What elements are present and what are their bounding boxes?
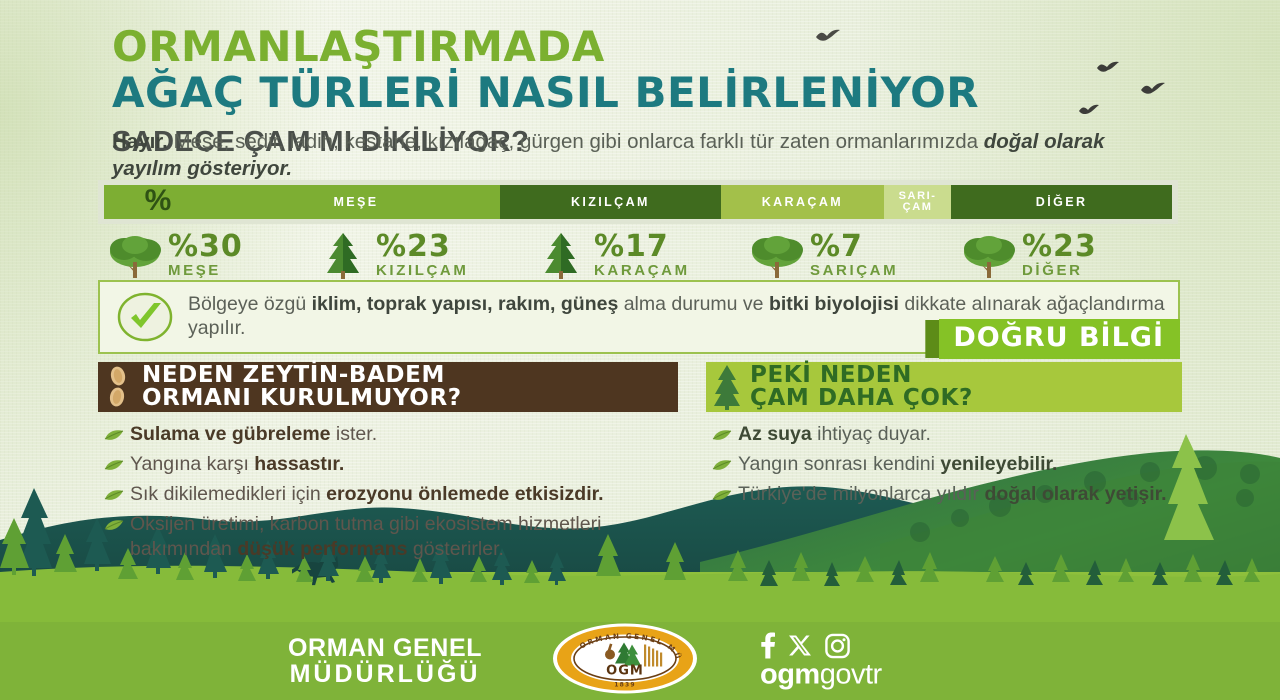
legend-value: %17: [594, 233, 690, 262]
svg-text:1839: 1839: [614, 682, 636, 689]
bird-icon: [1078, 103, 1100, 117]
panel-list: Az suya ihtiyaç duyar. Yangın sonrası ke…: [706, 422, 1182, 507]
panel-list: Sulama ve gübreleme ister. Yangına karşı…: [98, 422, 678, 561]
legend-value: %23: [376, 233, 468, 262]
list-item: Yangına karşı hassastır.: [104, 452, 678, 477]
broadleaf-tree-icon: [958, 232, 1020, 280]
bird-icon: [1096, 60, 1120, 75]
conifer-tree-icon: [530, 232, 592, 280]
list-item: Yangın sonrası kendini yenileyebilir.: [712, 452, 1182, 477]
leaf-bullet-icon: [104, 452, 130, 477]
panel-title-line-1: PEKİ NEDEN: [750, 364, 1182, 387]
footer-band: ORMAN GENEL MÜDÜRLÜĞÜ ORMAN GENEL MÜDÜRL…: [0, 622, 1280, 700]
panel-zeytin-badem: NEDEN ZEYTİN-BADEM ORMANI KURULMUYOR? Su…: [98, 362, 678, 566]
leaf-bullet-icon: [104, 482, 130, 507]
badge-ribbon-fold: [925, 320, 939, 358]
legend-label: KIZILÇAM: [376, 263, 468, 280]
list-item-text: Türkiye'de milyonlarca yıldır doğal olar…: [738, 482, 1182, 507]
ogm-seal-logo: ORMAN GENEL MÜDÜRLÜĞÜ O: [552, 623, 698, 700]
list-item: Oksijen üretimi, karbon tutma gibi ekosi…: [104, 512, 678, 561]
legend-label: DİĞER: [1022, 263, 1097, 280]
panel-cam-daha-cok: PEKİ NEDEN ÇAM DAHA ÇOK? Az suya ihtiyaç…: [706, 362, 1182, 512]
organization-name-line-2: MÜDÜRLÜĞÜ: [288, 661, 482, 687]
list-item-text: Az suya ihtiyaç duyar.: [738, 422, 1182, 447]
legend-item-sariçam: %7SARIÇAM: [746, 232, 958, 280]
percent-glyph: %: [145, 186, 172, 216]
headline-line-1: ORMANLAŞTIRMADA: [112, 26, 979, 68]
organization-name: ORMAN GENEL MÜDÜRLÜĞÜ: [288, 635, 482, 688]
conifer-tree-icon: [706, 362, 748, 412]
intro-paragraph: Hayır. Meşe, sedir, ladin, kestane, kızı…: [112, 128, 1152, 182]
legend-label: KARAÇAM: [594, 263, 690, 280]
almond-icon: [98, 362, 140, 412]
legend-label: SARIÇAM: [810, 263, 898, 280]
legend-value: %7: [810, 233, 898, 262]
list-item: Sık dikilemedikleri için erozyonu önleme…: [104, 482, 678, 507]
headline-line-2: AĞAÇ TÜRLERİ NASIL BELİRLENİYOR: [112, 72, 979, 114]
panel-title: NEDEN ZEYTİN-BADEM ORMANI KURULMUYOR?: [140, 362, 678, 412]
panel-title-line-1: NEDEN ZEYTİN-BADEM: [142, 364, 678, 387]
bar-segment-sari-am[interactable]: SARI-ÇAM: [884, 185, 951, 219]
list-item-text: Oksijen üretimi, karbon tutma gibi ekosi…: [130, 512, 678, 561]
panel-title-line-2: ÇAM DAHA ÇOK?: [750, 387, 1182, 410]
list-item: Türkiye'de milyonlarca yıldır doğal olar…: [712, 482, 1182, 507]
leaf-bullet-icon: [712, 482, 738, 507]
bar-track: %MEŞEKIZILÇAMKARAÇAMSARI-ÇAMDİĞER: [104, 185, 1172, 219]
legend-item-meşe: %30MEŞE: [104, 232, 312, 280]
conifer-tree-icon: [312, 232, 374, 280]
legend-item-di̇ğer: %23DİĞER: [958, 232, 1174, 280]
facebook-icon[interactable]: [760, 633, 775, 659]
social-handle-light: govtr: [820, 659, 882, 691]
list-item-text: Sık dikilemedikleri için erozyonu önleme…: [130, 482, 678, 507]
species-distribution-bar: %MEŞEKIZILÇAMKARAÇAMSARI-ÇAMDİĞER: [98, 180, 1178, 224]
x-twitter-icon[interactable]: [788, 634, 812, 658]
correct-info-badge: DOĞRU BİLGİ: [925, 320, 1180, 358]
bar-segment-kizil-am[interactable]: KIZILÇAM: [500, 185, 721, 219]
social-icons: [760, 633, 882, 659]
list-item: Az suya ihtiyaç duyar.: [712, 422, 1182, 447]
social-handle[interactable]: ogmgovtr: [760, 661, 882, 690]
broadleaf-tree-icon: [746, 232, 808, 280]
broadleaf-tree-icon: [104, 232, 166, 280]
leaf-bullet-icon: [712, 422, 738, 447]
list-item-text: Sulama ve gübreleme ister.: [130, 422, 678, 447]
bar-segment-me-e[interactable]: MEŞE: [212, 185, 500, 219]
svg-text:OGM: OGM: [606, 664, 644, 679]
list-item-text: Yangına karşı hassastır.: [130, 452, 678, 477]
intro-lead: Hayır.: [112, 130, 168, 153]
bird-icon: [1140, 81, 1166, 97]
leaf-bullet-icon: [712, 452, 738, 477]
social-block: ogmgovtr: [760, 633, 882, 690]
species-legend-row: %30MEŞE %23KIZILÇAM %17KARAÇAM %7SARIÇAM…: [104, 228, 1176, 280]
list-item-text: Yangın sonrası kendini yenileyebilir.: [738, 452, 1182, 477]
leaf-bullet-icon: [104, 422, 130, 447]
legend-label: MEŞE: [168, 263, 243, 280]
list-item: Sulama ve gübreleme ister.: [104, 422, 678, 447]
panel-title: PEKİ NEDEN ÇAM DAHA ÇOK?: [748, 362, 1182, 412]
panel-header: PEKİ NEDEN ÇAM DAHA ÇOK?: [706, 362, 1182, 412]
legend-value: %23: [1022, 233, 1097, 262]
panel-header: NEDEN ZEYTİN-BADEM ORMANI KURULMUYOR?: [98, 362, 678, 412]
check-circle-icon: [116, 291, 174, 343]
bar-percent-symbol: %: [104, 185, 212, 219]
instagram-icon[interactable]: [825, 633, 850, 658]
organization-name-line-1: ORMAN GENEL: [288, 635, 482, 661]
intro-rest: Meşe, sedir, ladin, kestane, kızılağaç, …: [168, 130, 984, 153]
legend-item-kizilçam: %23KIZILÇAM: [312, 232, 530, 280]
legend-item-karaçam: %17KARAÇAM: [530, 232, 746, 280]
panel-title-line-2: ORMANI KURULMUYOR?: [142, 387, 678, 410]
badge-label: DOĞRU BİLGİ: [939, 319, 1180, 359]
social-handle-bold: ogm: [760, 659, 820, 691]
legend-value: %30: [168, 233, 243, 262]
infographic-page: ORMANLAŞTIRMADA AĞAÇ TÜRLERİ NASIL BELİR…: [0, 0, 1280, 700]
bar-segment-kara-am[interactable]: KARAÇAM: [721, 185, 884, 219]
correct-info-callout: Bölgeye özgü iklim, toprak yapısı, rakım…: [98, 280, 1180, 354]
bar-segment-di-er[interactable]: DİĞER: [951, 185, 1172, 219]
leaf-bullet-icon: [104, 512, 130, 537]
